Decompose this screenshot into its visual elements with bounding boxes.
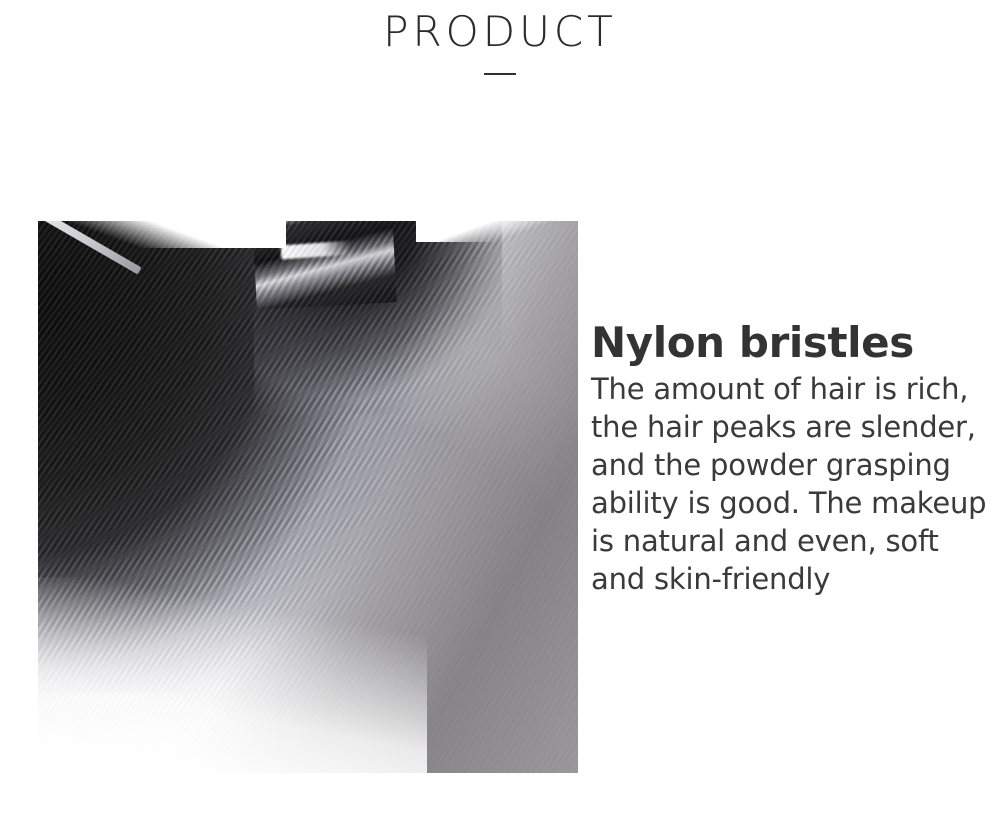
photo-top-white-right xyxy=(416,196,578,242)
feature-body-line: The amount of hair is rich, xyxy=(591,370,991,408)
feature-copy-block: Nylon bristles The amount of hair is ric… xyxy=(591,318,991,598)
product-detail-page: PRODUCT Nylon bristles The amount of hai… xyxy=(0,0,1000,837)
feature-body: The amount of hair is rich, the hair pea… xyxy=(591,370,991,598)
title-divider xyxy=(484,73,516,75)
feature-body-line: and the powder grasping xyxy=(591,446,991,484)
feature-heading: Nylon bristles xyxy=(591,318,991,368)
feature-body-line: ability is good. The makeup xyxy=(591,484,991,522)
feature-body-line: the hair peaks are slender, xyxy=(591,408,991,446)
feature-body-line: is natural and even, soft xyxy=(591,522,991,560)
feature-body-line: and skin-friendly xyxy=(591,560,991,598)
bristle-tips-fade xyxy=(38,577,427,773)
page-title: PRODUCT xyxy=(0,9,1000,55)
product-photo xyxy=(38,196,578,773)
page-header: PRODUCT xyxy=(0,0,1000,110)
photo-top-white-left xyxy=(38,196,286,248)
